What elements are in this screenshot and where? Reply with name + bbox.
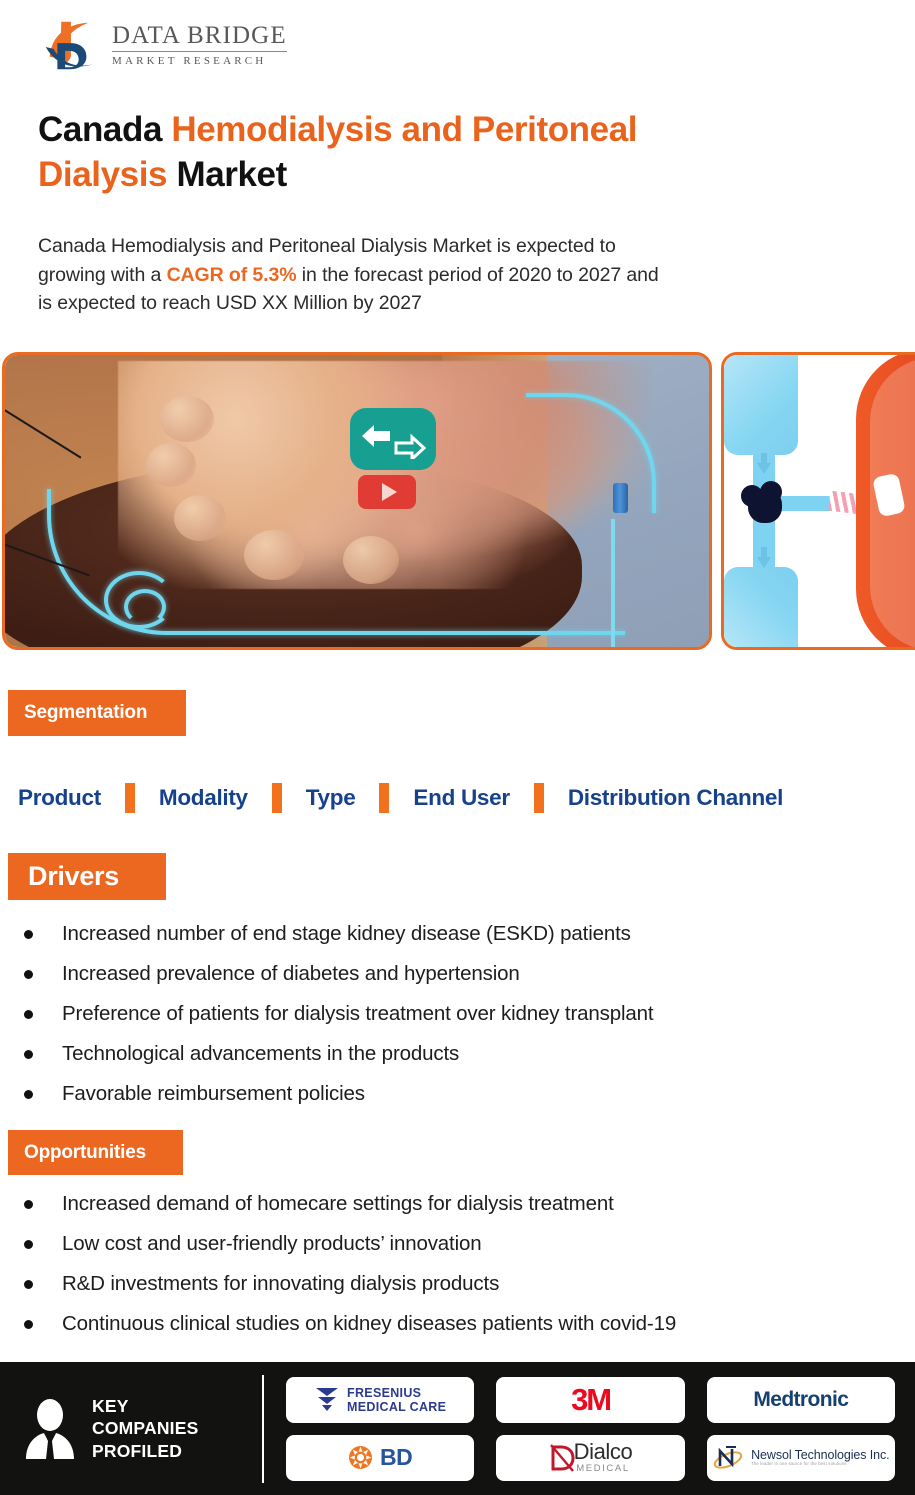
businessman-silhouette-icon <box>22 1397 78 1459</box>
brand-tagline: MARKET RESEARCH <box>112 55 287 67</box>
dialco-wordmark: Dialco MEDICAL <box>574 1441 633 1474</box>
segmentation-item-product[interactable]: Product <box>16 785 103 811</box>
bullet-icon <box>24 1050 33 1059</box>
fresenius-line-1: FRESENIUS <box>347 1386 446 1400</box>
side-illustration-panel <box>721 352 915 650</box>
opportunity-text: Increased demand of homecare settings fo… <box>62 1190 614 1217</box>
opportunity-text: R&D investments for innovating dialysis … <box>62 1270 499 1297</box>
list-item: Continuous clinical studies on kidney di… <box>18 1310 898 1337</box>
play-button-badge[interactable] <box>358 475 416 509</box>
list-item: Increased demand of homecare settings fo… <box>18 1190 898 1217</box>
list-item: Increased number of end stage kidney dis… <box>18 920 898 947</box>
exchange-arrows-icon <box>360 419 426 459</box>
driver-text: Favorable reimbursement policies <box>62 1080 365 1107</box>
valve-icon <box>748 489 782 523</box>
headline-part-3: Market <box>167 155 287 194</box>
key-label-line-1: KEY <box>92 1395 198 1417</box>
intro-paragraph: Canada Hemodialysis and Peritoneal Dialy… <box>38 232 663 318</box>
footer-key-companies: KEY COMPANIES PROFILED FRESENIUS MEDICAL… <box>0 1362 915 1495</box>
newsol-name: Newsol Technologies Inc. <box>751 1449 889 1462</box>
newsol-wordmark: Newsol Technologies Inc. The leader in o… <box>751 1449 889 1467</box>
flow-arrow-stem <box>761 547 767 557</box>
key-companies-label-group: KEY COMPANIES PROFILED <box>0 1395 262 1462</box>
3m-wordmark: 3M <box>571 1382 610 1418</box>
brand-name: DATA BRIDGE <box>112 23 287 49</box>
bullet-icon <box>24 1320 33 1329</box>
bullet-icon <box>24 1010 33 1019</box>
company-logo-newsol[interactable]: Newsol Technologies Inc. The leader in o… <box>707 1435 895 1481</box>
main-illustration-panel <box>2 352 712 650</box>
opportunity-text: Continuous clinical studies on kidney di… <box>62 1310 676 1337</box>
illustration-band <box>0 352 915 650</box>
dialco-d-icon <box>549 1443 575 1473</box>
page-title: Canada Hemodialysis and Peritoneal Dialy… <box>38 108 638 198</box>
side-panel-background <box>724 355 915 647</box>
bd-burst-icon <box>348 1445 373 1470</box>
key-companies-label: KEY COMPANIES PROFILED <box>92 1395 198 1462</box>
driver-text: Technological advancements in the produc… <box>62 1040 459 1067</box>
catheter-connector <box>613 483 628 513</box>
data-bridge-b-logo-icon <box>38 14 100 76</box>
intestine-loop <box>146 443 196 487</box>
bullet-icon <box>24 1240 33 1249</box>
catheter-lower-tube <box>611 519 615 647</box>
company-logo-fresenius[interactable]: FRESENIUS MEDICAL CARE <box>286 1377 474 1423</box>
list-item: Favorable reimbursement policies <box>18 1080 898 1107</box>
play-icon <box>382 483 397 501</box>
fresenius-line-2: MEDICAL CARE <box>347 1400 446 1414</box>
kidney-organ <box>856 352 915 650</box>
brand-rule <box>112 51 287 53</box>
bullet-icon <box>24 1280 33 1289</box>
company-logo-bd[interactable]: BD <box>286 1435 474 1481</box>
catheter-coil-tip <box>104 571 174 629</box>
exchange-arrows-badge[interactable] <box>350 408 436 470</box>
vessel-access-point <box>872 473 906 518</box>
opportunities-badge: Opportunities <box>8 1130 183 1175</box>
bullet-icon <box>24 930 33 939</box>
drivers-list: Increased number of end stage kidney dis… <box>18 920 898 1120</box>
segmentation-separator <box>272 783 282 813</box>
flow-arrow-icon <box>757 557 771 568</box>
list-item: Low cost and user-friendly products’ inn… <box>18 1230 898 1257</box>
brand-logo: DATA BRIDGE MARKET RESEARCH <box>38 14 287 76</box>
company-logo-medtronic[interactable]: Medtronic <box>707 1377 895 1423</box>
intestine-loop <box>160 396 214 442</box>
medtronic-wordmark: Medtronic <box>753 1388 848 1412</box>
company-logo-dialco[interactable]: Dialco MEDICAL <box>496 1435 684 1481</box>
company-logo-3m[interactable]: 3M <box>496 1377 684 1423</box>
list-item: R&D investments for innovating dialysis … <box>18 1270 898 1297</box>
bullet-icon <box>24 970 33 979</box>
driver-text: Increased number of end stage kidney dis… <box>62 920 631 947</box>
segmentation-item-distribution-channel[interactable]: Distribution Channel <box>566 785 785 811</box>
bd-wordmark: BD <box>380 1444 412 1471</box>
key-label-line-3: PROFILED <box>92 1440 198 1462</box>
segmentation-item-type[interactable]: Type <box>304 785 358 811</box>
key-label-line-2: COMPANIES <box>92 1417 198 1439</box>
headline-part-1: Canada <box>38 110 171 149</box>
abdomen-illustration <box>5 355 709 647</box>
fresenius-wordmark: FRESENIUS MEDICAL CARE <box>347 1386 446 1414</box>
list-item: Increased prevalence of diabetes and hyp… <box>18 960 898 987</box>
segmentation-badge: Segmentation <box>8 690 186 736</box>
opportunity-text: Low cost and user-friendly products’ inn… <box>62 1230 482 1257</box>
dialco-name: Dialco <box>574 1441 633 1463</box>
segmentation-separator <box>379 783 389 813</box>
dialysate-bag-bottom <box>724 567 798 647</box>
opportunities-list: Increased demand of homecare settings fo… <box>18 1190 898 1350</box>
segmentation-separator <box>125 783 135 813</box>
infographic-page: DATA BRIDGE MARKET RESEARCH Canada Hemod… <box>0 0 915 1495</box>
cagr-highlight: CAGR of 5.3% <box>167 264 297 286</box>
brand-wordmark: DATA BRIDGE MARKET RESEARCH <box>112 23 287 68</box>
segmentation-item-modality[interactable]: Modality <box>157 785 250 811</box>
segmentation-item-end-user[interactable]: End User <box>411 785 511 811</box>
list-item: Preference of patients for dialysis trea… <box>18 1000 898 1027</box>
segmentation-separator <box>534 783 544 813</box>
newsol-orbit-icon <box>712 1444 744 1472</box>
flow-arrow-icon <box>757 463 771 474</box>
dialco-subtitle: MEDICAL <box>576 1464 629 1474</box>
bullet-icon <box>24 1090 33 1099</box>
list-item: Technological advancements in the produc… <box>18 1040 898 1067</box>
flow-arrow-stem <box>761 453 767 463</box>
footer-divider <box>262 1375 264 1483</box>
bullet-icon <box>24 1200 33 1209</box>
segmentation-list: Product Modality Type End User Distribut… <box>16 778 906 818</box>
company-logo-grid: FRESENIUS MEDICAL CARE 3M Medtronic <box>286 1377 915 1481</box>
newsol-tagline: The leader in one source for the best so… <box>751 1462 847 1466</box>
drivers-badge: Drivers <box>8 853 166 900</box>
dialysate-bag-top <box>724 355 798 455</box>
pointer-line <box>3 408 82 458</box>
driver-text: Preference of patients for dialysis trea… <box>62 1000 653 1027</box>
driver-text: Increased prevalence of diabetes and hyp… <box>62 960 520 987</box>
fresenius-chevron-icon <box>314 1386 340 1414</box>
